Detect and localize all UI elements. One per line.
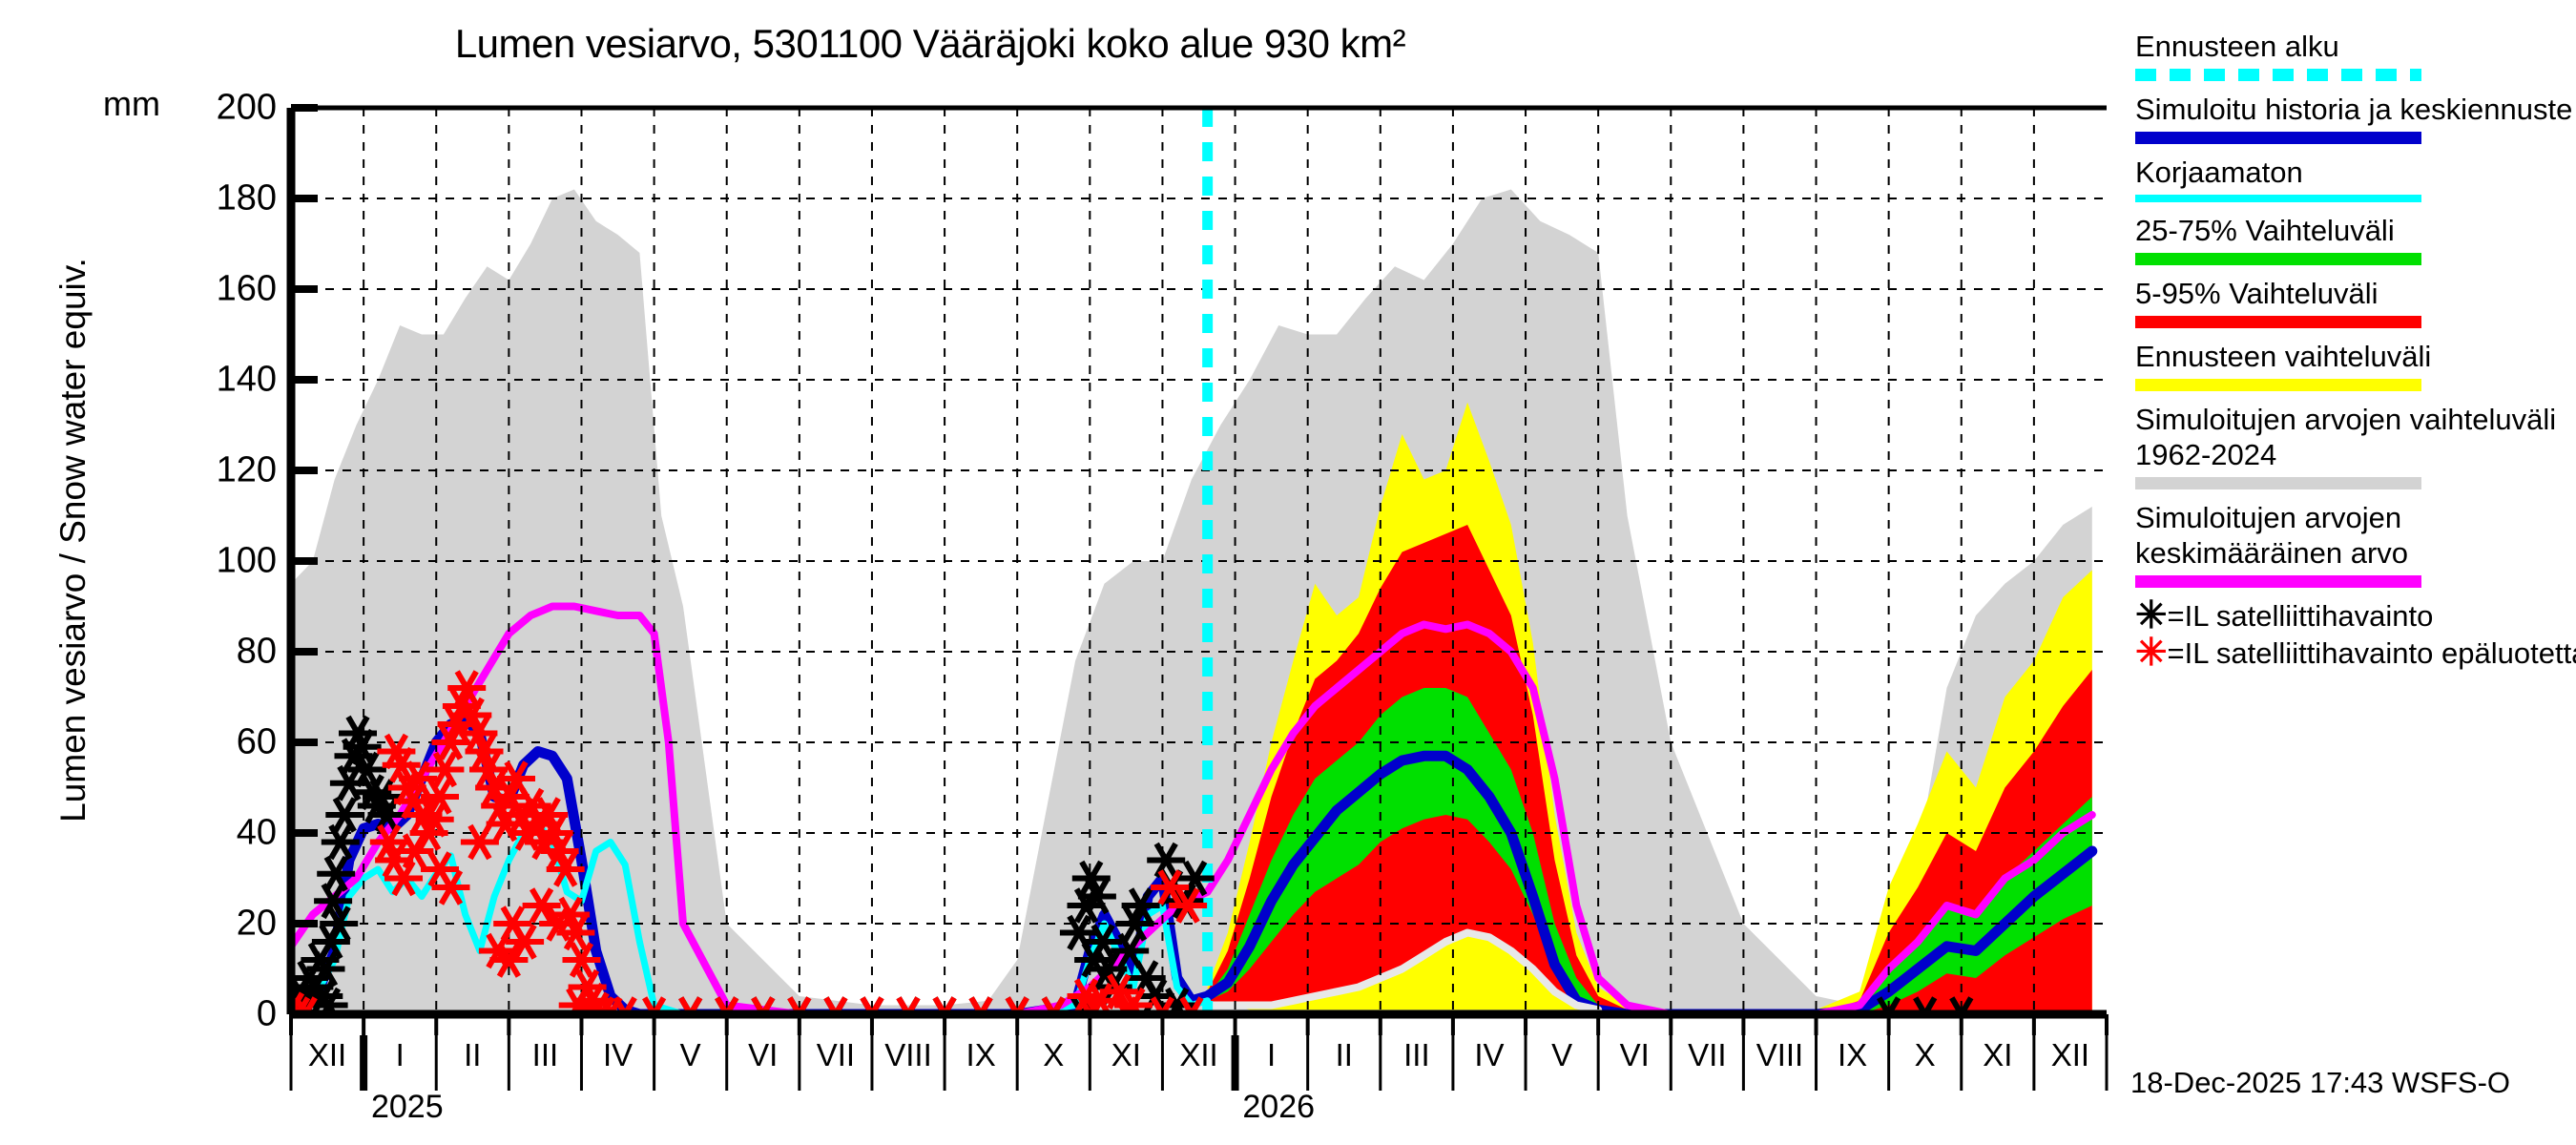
legend-label: Ennusteen vaihteluväli [2135, 339, 2576, 374]
legend-swatch [2135, 132, 2421, 144]
legend-label: Simuloitujen arvojen vaihteluväli 1962-2… [2135, 402, 2576, 472]
x-tick-label-month: VII [817, 1037, 855, 1073]
legend-label: =IL satelliittihavainto [2168, 598, 2434, 634]
x-axis-year-label: 2026 [1242, 1089, 1315, 1126]
legend-label: Korjaamaton [2135, 155, 2576, 190]
legend-item: 5-95% Vaihteluväli [2135, 276, 2576, 328]
legend-label: Simuloitujen arvojen keskimääräinen arvo [2135, 500, 2576, 571]
x-tick-label-month: XI [1983, 1037, 2012, 1073]
x-tick-label-month: VII [1688, 1037, 1726, 1073]
x-tick-label-month: I [1267, 1037, 1276, 1073]
x-tick-label-month: II [464, 1037, 481, 1073]
x-tick-label-month: V [1551, 1037, 1572, 1073]
x-tick-label-month: XII [2051, 1037, 2089, 1073]
legend-swatch [2135, 69, 2421, 81]
x-tick-label-month: I [396, 1037, 405, 1073]
legend-label: Simuloitu historia ja keskiennuste [2135, 92, 2576, 127]
legend-swatch [2135, 253, 2421, 265]
legend-label: Ennusteen alku [2135, 29, 2576, 64]
legend-item: Korjaamaton [2135, 155, 2576, 202]
legend-item: ✳=IL satelliittihavainto [2135, 598, 2576, 634]
x-tick-label-month: IV [603, 1037, 633, 1073]
x-tick-label-month: X [1915, 1037, 1936, 1073]
x-tick-label-month: IX [1838, 1037, 1867, 1073]
legend-label: 25-75% Vaihteluväli [2135, 213, 2576, 248]
legend-item: ✳=IL satelliittihavainto epäluotettava [2135, 635, 2576, 671]
x-axis-year-label: 2025 [371, 1089, 444, 1126]
x-tick-label-month: XII [1179, 1037, 1217, 1073]
x-tick-label-month: VIII [884, 1037, 932, 1073]
legend-swatch [2135, 477, 2421, 489]
x-tick-label-month: VIII [1756, 1037, 1804, 1073]
legend-swatch [2135, 575, 2421, 588]
legend-item: Simuloitu historia ja keskiennuste [2135, 92, 2576, 144]
legend-item: Simuloitujen arvojen vaihteluväli 1962-2… [2135, 402, 2576, 489]
x-tick-label-month: IX [966, 1037, 996, 1073]
legend-item: 25-75% Vaihteluväli [2135, 213, 2576, 265]
x-tick-label-month: III [1403, 1037, 1430, 1073]
x-tick-label-month: III [532, 1037, 559, 1073]
legend-item: Simuloitujen arvojen keskimääräinen arvo [2135, 500, 2576, 588]
legend-label: =IL satelliittihavainto epäluotettava [2168, 635, 2576, 671]
legend-label: 5-95% Vaihteluväli [2135, 276, 2576, 311]
x-tick-label-month: XII [308, 1037, 346, 1073]
legend-swatch [2135, 195, 2421, 202]
x-tick-label-month: VI [748, 1037, 778, 1073]
x-tick-label-month: V [680, 1037, 701, 1073]
satellite-star-icon: ✳ [2135, 635, 2168, 670]
satellite-star-icon: ✳ [2135, 598, 2168, 633]
x-tick-label-month: II [1336, 1037, 1353, 1073]
x-tick-label-month: XI [1111, 1037, 1141, 1073]
legend-swatch [2135, 379, 2421, 391]
chart-page: Lumen vesiarvo, 5301100 Vääräjoki koko a… [0, 0, 2576, 1145]
legend-item: Ennusteen vaihteluväli [2135, 339, 2576, 391]
legend-item: Ennusteen alku [2135, 29, 2576, 81]
footer-timestamp: 18-Dec-2025 17:43 WSFS-O [2130, 1066, 2510, 1100]
x-tick-label-month: X [1043, 1037, 1064, 1073]
x-tick-label-month: VI [1620, 1037, 1650, 1073]
x-tick-label-month: IV [1474, 1037, 1504, 1073]
chart-legend: Ennusteen alkuSimuloitu historia ja kesk… [2135, 29, 2576, 673]
legend-swatch [2135, 316, 2421, 328]
